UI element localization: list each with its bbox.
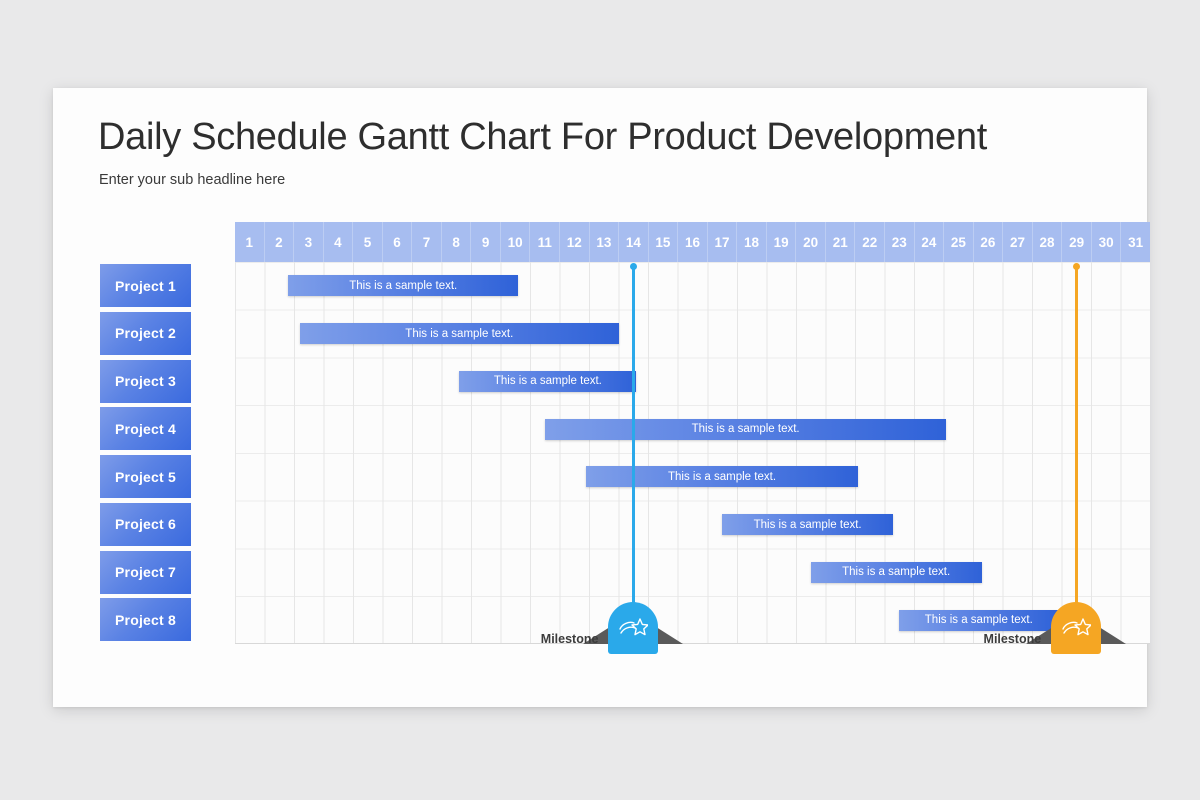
- page-title: Daily Schedule Gantt Chart For Product D…: [98, 116, 987, 159]
- project-label-5[interactable]: Project 5: [100, 455, 191, 498]
- shooting-star-icon: [618, 616, 648, 640]
- slide-card: Daily Schedule Gantt Chart For Product D…: [53, 88, 1147, 707]
- day-header-cell-17[interactable]: 17: [708, 222, 738, 262]
- shooting-star-icon: [1061, 616, 1091, 640]
- task-bar-6[interactable]: This is a sample text.: [722, 514, 893, 535]
- project-label-3[interactable]: Project 3: [100, 360, 191, 403]
- day-header-cell-8[interactable]: 8: [442, 222, 472, 262]
- milestone-line-2: [1075, 265, 1078, 641]
- gantt-plot-area: This is a sample text.This is a sample t…: [235, 262, 1150, 644]
- milestone-line-1: [632, 265, 635, 641]
- day-header-cell-19[interactable]: 19: [767, 222, 797, 262]
- day-header-cell-21[interactable]: 21: [826, 222, 856, 262]
- day-header-cell-4[interactable]: 4: [324, 222, 354, 262]
- project-label-4[interactable]: Project 4: [100, 407, 191, 450]
- project-label-column: Project 1Project 2Project 3Project 4Proj…: [98, 222, 191, 662]
- task-bar-3[interactable]: This is a sample text.: [459, 371, 636, 392]
- milestone-label-1: Milestone: [498, 632, 598, 646]
- milestone-label-2: Milestone: [941, 632, 1041, 646]
- day-header-cell-7[interactable]: 7: [412, 222, 442, 262]
- task-bar-4[interactable]: This is a sample text.: [545, 419, 946, 440]
- day-header-cell-5[interactable]: 5: [353, 222, 383, 262]
- gantt-grid: 1234567891011121314151617181920212223242…: [235, 222, 1150, 662]
- day-header-row: 1234567891011121314151617181920212223242…: [235, 222, 1150, 262]
- task-bar-5[interactable]: This is a sample text.: [586, 466, 858, 487]
- task-bar-7[interactable]: This is a sample text.: [811, 562, 982, 583]
- day-header-cell-2[interactable]: 2: [265, 222, 295, 262]
- task-bar-1[interactable]: This is a sample text.: [288, 275, 518, 296]
- day-header-cell-3[interactable]: 3: [294, 222, 324, 262]
- day-header-cell-13[interactable]: 13: [590, 222, 620, 262]
- project-label-8[interactable]: Project 8: [100, 598, 191, 641]
- day-header-cell-20[interactable]: 20: [796, 222, 826, 262]
- day-header-cell-25[interactable]: 25: [944, 222, 974, 262]
- day-header-cell-10[interactable]: 10: [501, 222, 531, 262]
- day-header-cell-12[interactable]: 12: [560, 222, 590, 262]
- day-header-cell-26[interactable]: 26: [974, 222, 1004, 262]
- project-label-7[interactable]: Project 7: [100, 551, 191, 594]
- milestone-dot-2: [1073, 263, 1080, 270]
- day-header-cell-23[interactable]: 23: [885, 222, 915, 262]
- project-label-2[interactable]: Project 2: [100, 312, 191, 355]
- day-header-cell-14[interactable]: 14: [619, 222, 649, 262]
- day-header-cell-31[interactable]: 31: [1121, 222, 1150, 262]
- day-header-cell-16[interactable]: 16: [678, 222, 708, 262]
- task-bar-2[interactable]: This is a sample text.: [300, 323, 619, 344]
- project-label-6[interactable]: Project 6: [100, 503, 191, 546]
- gantt-chart: Project 1Project 2Project 3Project 4Proj…: [98, 222, 1113, 662]
- project-label-1[interactable]: Project 1: [100, 264, 191, 307]
- day-header-cell-22[interactable]: 22: [855, 222, 885, 262]
- day-header-cell-30[interactable]: 30: [1092, 222, 1122, 262]
- day-header-cell-1[interactable]: 1: [235, 222, 265, 262]
- day-header-cell-6[interactable]: 6: [383, 222, 413, 262]
- day-header-cell-29[interactable]: 29: [1062, 222, 1092, 262]
- day-header-cell-11[interactable]: 11: [530, 222, 560, 262]
- milestone-dot-1: [630, 263, 637, 270]
- milestone-pin-2[interactable]: [1051, 602, 1101, 654]
- page-subtitle: Enter your sub headline here: [99, 172, 285, 188]
- day-header-cell-24[interactable]: 24: [915, 222, 945, 262]
- day-header-cell-9[interactable]: 9: [471, 222, 501, 262]
- day-header-cell-27[interactable]: 27: [1003, 222, 1033, 262]
- day-header-cell-28[interactable]: 28: [1033, 222, 1063, 262]
- day-header-cell-18[interactable]: 18: [737, 222, 767, 262]
- milestone-pin-1[interactable]: [608, 602, 658, 654]
- day-header-cell-15[interactable]: 15: [649, 222, 679, 262]
